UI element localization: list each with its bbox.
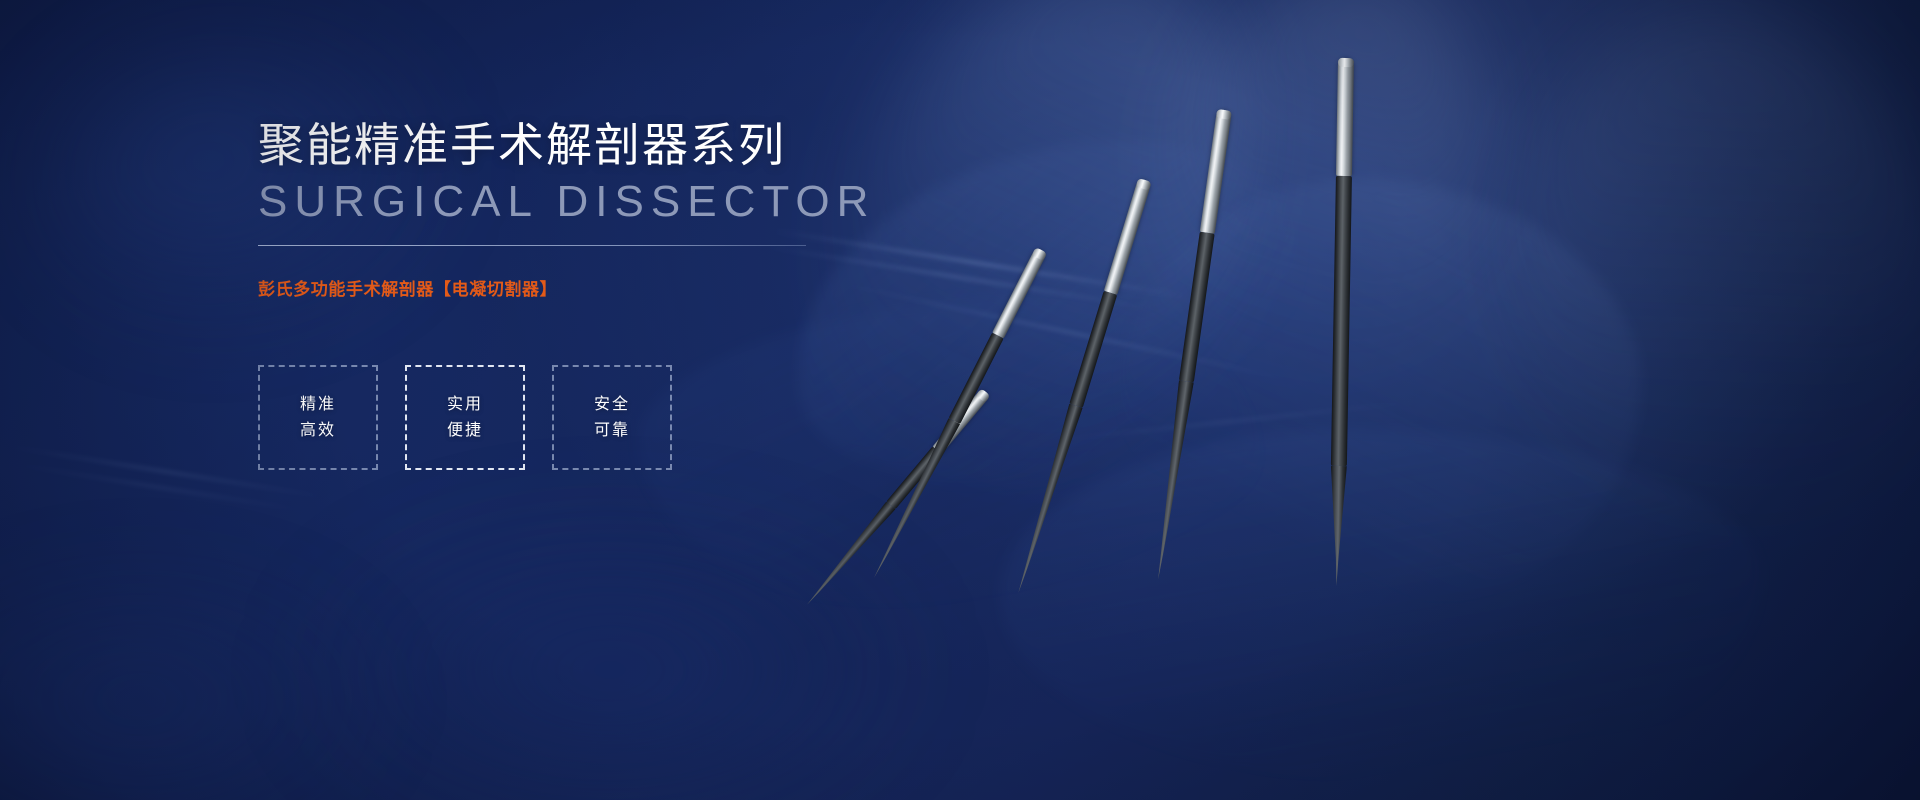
feature-badge-line2: 可靠 [594,423,630,439]
banner-title-chinese: 聚能精准手术解剖器系列 [258,118,786,172]
feature-badge-safety[interactable]: 安全 可靠 [552,365,672,470]
feature-badge-line1: 精准 [300,397,336,413]
banner-text-block: 聚能精准手术解剖器系列 SURGICAL DISSECTOR 彭氏多功能手术解剖… [258,0,1158,800]
feature-badge-line1: 安全 [594,397,630,413]
title-divider [258,245,806,246]
banner-title-english: SURGICAL DISSECTOR [258,176,875,229]
instrument-4 [1217,109,1232,111]
instrument-tapered-tip [1329,466,1347,586]
product-hero-banner: 聚能精准手术解剖器系列 SURGICAL DISSECTOR 彭氏多功能手术解剖… [0,0,1920,800]
feature-badge-line1: 实用 [447,397,483,413]
feature-badge-practical[interactable]: 实用 便捷 [405,365,525,470]
banner-subtitle-product-name: 彭氏多功能手术解剖器【电凝切割器】 [258,277,557,303]
feature-badge-group: 精准 高效 实用 便捷 安全 可靠 [258,365,672,470]
instrument-shaft [1331,176,1352,466]
instrument-highlight [1211,102,1240,106]
feature-badge-line2: 便捷 [447,423,483,439]
instrument-shaft [1179,232,1215,383]
feature-badge-precision[interactable]: 精准 高效 [258,365,378,470]
feature-badge-line2: 高效 [300,423,336,439]
instrument-highlight [1331,52,1361,53]
instrument-metal-handle [1200,109,1232,234]
instrument-metal-handle [1336,58,1354,176]
